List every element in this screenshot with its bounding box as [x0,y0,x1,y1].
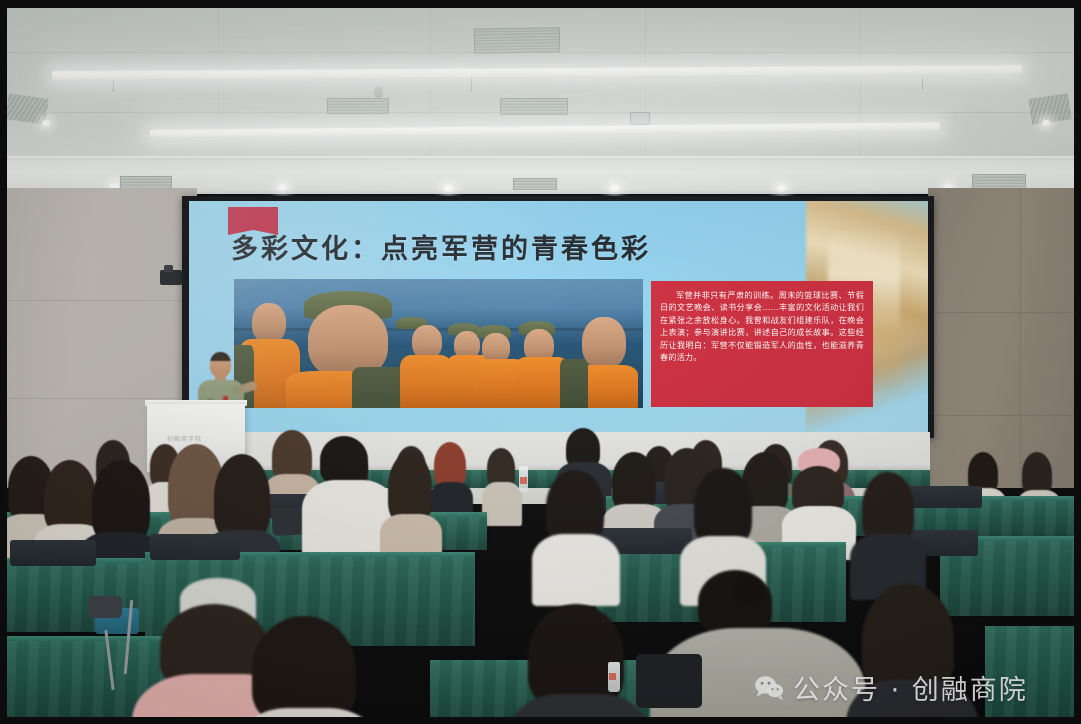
downlight [777,185,786,192]
bag [88,596,122,618]
uniform-torso [352,367,406,408]
wall-seam [1020,188,1021,488]
water-bottle [519,466,528,492]
torso [532,534,620,606]
ceiling-panel-seam [860,8,861,158]
hair [528,604,624,708]
slide-title: 多彩文化：点亮军营的青春色彩 [231,227,651,266]
uniform-torso [560,359,588,408]
ceiling-panel-seam [430,8,431,158]
hair [44,460,96,534]
light-hanger [471,77,472,91]
sprinkler-head [375,87,382,96]
ceiling-vent-left [327,98,389,114]
ceiling-vent-corner-right [1028,93,1071,124]
soldier-head [582,317,626,369]
lecture-hall-photo: 多彩文化：点亮军营的青春色彩 [0,0,1081,724]
life-vest [400,355,452,408]
slide-body-text: 军营并非只有严肃的训练。周末的篮球比赛、节假日的文艺晚会、读书分享会……丰富的文… [660,289,864,363]
ceiling-vent-top [474,27,560,53]
downlight [610,185,619,192]
desk-drape [985,626,1074,724]
wall-seam [7,300,197,301]
backpack [636,654,702,708]
hair [862,584,954,694]
ceiling-vent-right [500,98,568,115]
downlight [42,120,50,126]
seat-back [10,540,96,566]
torso [846,680,978,724]
ceiling-panel-seam [645,8,646,158]
light-hanger [113,78,114,92]
hair-bun-knot [734,576,764,604]
slide-photo-soldiers [234,279,643,408]
wall-right-panel [928,188,1074,488]
desk-row [985,626,1074,724]
wall-seam [7,398,197,399]
hair [320,436,368,484]
hair [612,452,656,512]
soffit-vent-center [513,178,557,190]
light-hanger [922,76,923,90]
hair [214,454,270,540]
wall-seam [928,312,1074,313]
downlight [444,185,453,192]
hair-bun [698,570,772,634]
seat-back [150,534,240,560]
torso [482,482,522,526]
wall-seam [928,415,1074,416]
water-bottle [608,662,620,692]
podium-logo-text: 创融商学院 [167,434,227,444]
hair [694,468,752,546]
hair [546,470,604,544]
ceiling-soffit-edge [7,156,1074,160]
wall-camera-icon [160,270,182,285]
smoke-detector [630,112,650,125]
slide-text-panel: 军营并非只有严肃的训练。周末的篮球比赛、节假日的文艺晚会、读书分享会……丰富的文… [651,281,873,407]
downlight [278,184,287,191]
downlight [1042,120,1050,126]
projection-screen: 多彩文化：点亮军营的青春色彩 [189,201,928,433]
soffit-vent-right [972,174,1026,189]
soldier-head [252,303,286,343]
soldier-head [412,325,442,359]
